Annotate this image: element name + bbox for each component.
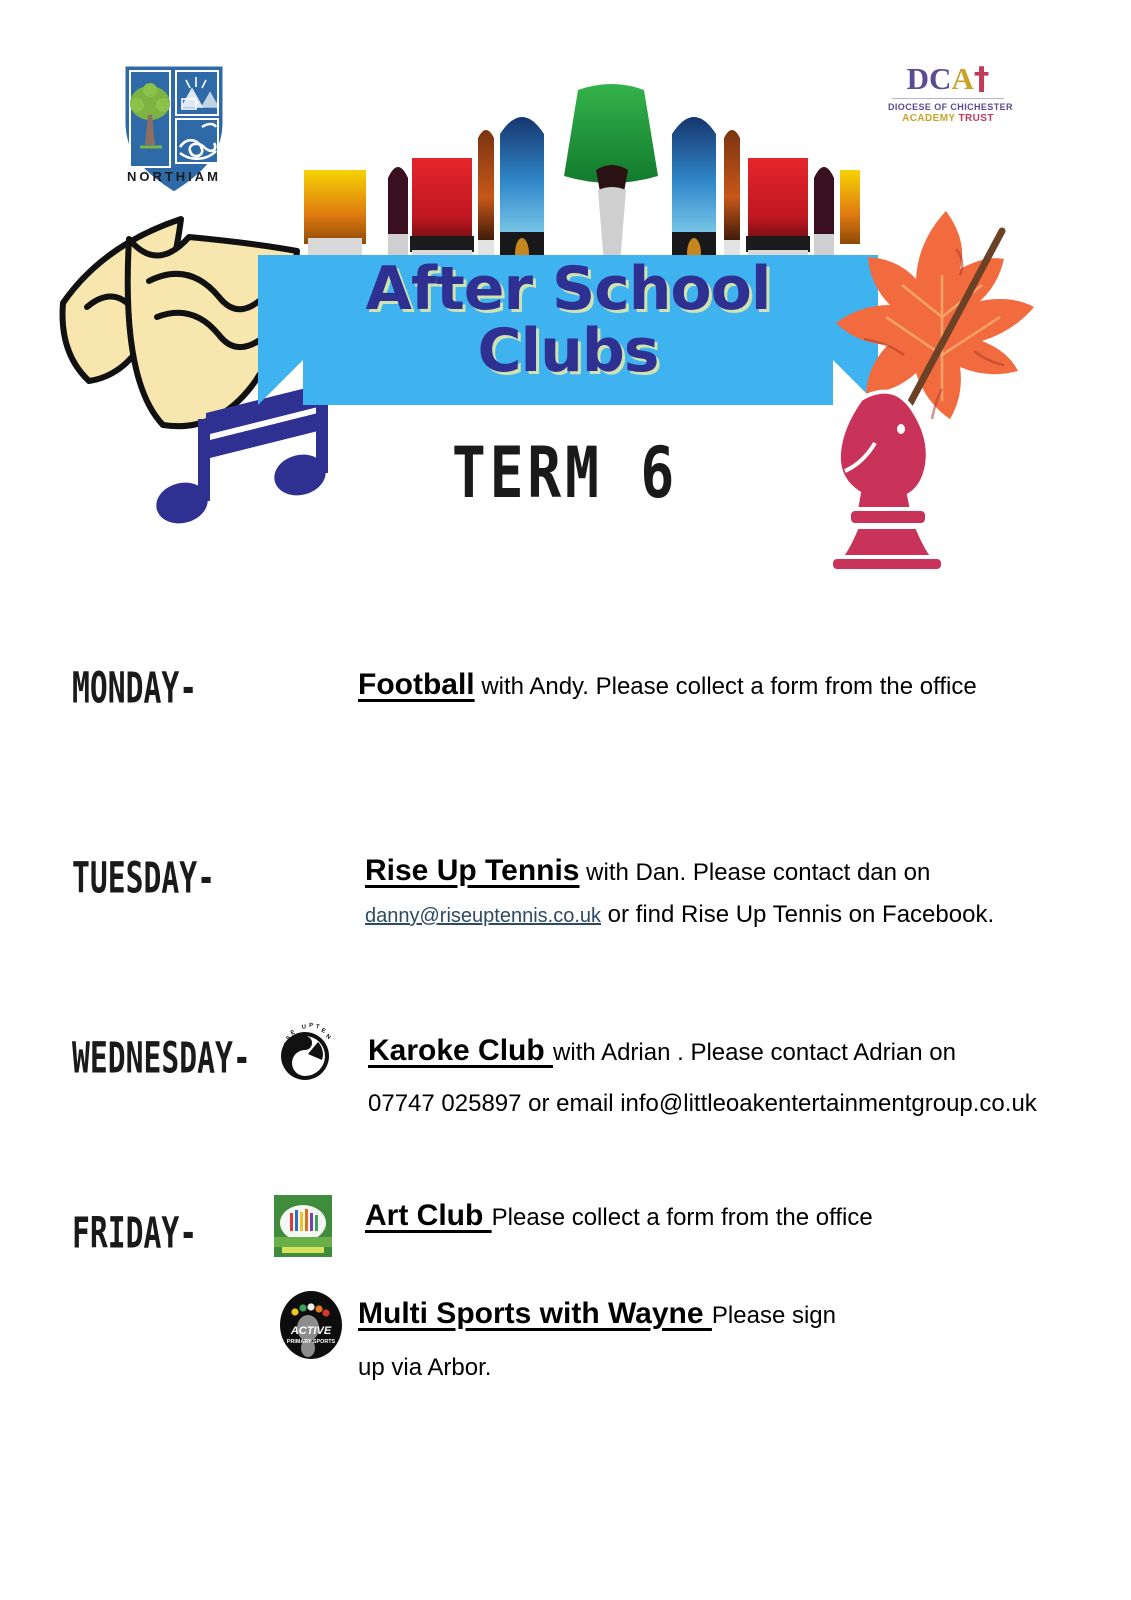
club-entry-art-club: Art Club Please collect a form from the … [365,1195,873,1239]
dcat-academy-word: ACADEMY [902,113,955,124]
dcat-acronym: DCA† [888,62,1008,96]
club-desc-karoke-club: with Adrian . Please contact Adrian on [553,1039,956,1066]
svg-text:N: N [324,1034,331,1041]
dcat-trust-word: TRUST [959,113,994,124]
club-contact-karoke-club: 07747 025897 or email info@littleoakente… [368,1074,1037,1134]
club-name-rise-up-tennis: Rise Up Tennis [365,854,579,887]
paintbrushes-illustration [300,78,860,268]
dcat-trust-line: ACADEMY TRUST [888,113,1008,124]
dcat-logo: DCA† DIOCESE OF CHICHESTER ACADEMY TRUST [888,62,1008,140]
svg-text:U: U [302,1024,307,1031]
svg-text:ACTIVE: ACTIVE [290,1325,332,1337]
poster-title-line1: After School [258,258,878,320]
poster-header: NORTHIAM DCA† DIOCESE OF CHICHESTER ACAD… [0,0,1131,620]
rise-up-tennis-logo: R I S E U P T E N [272,1020,334,1082]
club-entry-line: danny@riseuptennis.co.uk or find Rise Up… [365,894,994,937]
club-name-art-club: Art Club [365,1199,492,1232]
active-primary-sports-logo: ACTIVE PRIMARY SPORTS [278,1290,344,1360]
poster-title: After School Clubs [258,258,878,382]
club-desc-football: with Andy. Please collect a form from th… [475,673,977,700]
svg-text:E: E [320,1028,326,1035]
svg-text:T: T [315,1024,320,1031]
club-desc-multi-sports-2: up via Arbor. [358,1337,836,1399]
club-name-multi-sports: Multi Sports with Wayne [358,1297,712,1330]
art-club-logo [274,1195,332,1257]
dcat-divider [892,98,1004,99]
club-entry-line: Rise Up Tennis with Dan. Please contact … [365,850,994,894]
club-name-karoke-club: Karoke Club [368,1034,553,1067]
dcat-cross-icon: † [974,61,990,97]
schedule-row-friday: FRIDAY- Art Club Please coll [0,1185,1131,1247]
rise-up-tennis-email-link[interactable]: danny@riseuptennis.co.uk [365,905,601,927]
club-entry-line: Karoke Club with Adrian . Please contact… [368,1030,1037,1074]
day-label-friday: FRIDAY- [72,1207,197,1258]
svg-text:PRIMARY SPORTS: PRIMARY SPORTS [287,1339,336,1345]
day-label-wednesday: WEDNESDAY- [72,1032,251,1083]
club-desc-multi-sports: Please sign [712,1302,836,1329]
club-desc-art-club: Please collect a form from the office [492,1204,873,1231]
club-name-football: Football [358,668,475,701]
term-heading: TERM 6 [316,432,814,515]
club-entry-line: Art Club Please collect a form from the … [365,1195,873,1239]
chess-knight-icon [815,375,960,575]
dcat-diocese-line: DIOCESE OF CHICHESTER [888,102,1008,112]
day-label-monday: MONDAY- [72,662,197,713]
club-entry-line: Football with Andy. Please collect a for… [358,664,977,708]
club-desc-rise-up-tennis: with Dan. Please contact dan on [579,859,930,886]
club-entry-karoke-club: Karoke Club with Adrian . Please contact… [368,1030,1037,1134]
club-entry-line: Multi Sports with Wayne Please sign [358,1293,836,1337]
club-entry-football: Football with Andy. Please collect a for… [358,664,977,708]
dcat-a: A [951,61,973,96]
crest-school-name: NORTHIAM [110,169,238,184]
northiam-school-crest: NORTHIAM [110,57,238,207]
day-label-tuesday: TUESDAY- [72,852,215,903]
poster-title-line2: Clubs [258,320,878,382]
club-entry-rise-up-tennis: Rise Up Tennis with Dan. Please contact … [365,850,994,937]
dcat-dc: DC [907,61,952,96]
club-desc-rise-up-tennis-2: or find Rise Up Tennis on Facebook. [601,901,994,928]
svg-text:P: P [309,1023,313,1029]
club-entry-multi-sports: Multi Sports with Wayne Please sign up v… [358,1293,836,1399]
